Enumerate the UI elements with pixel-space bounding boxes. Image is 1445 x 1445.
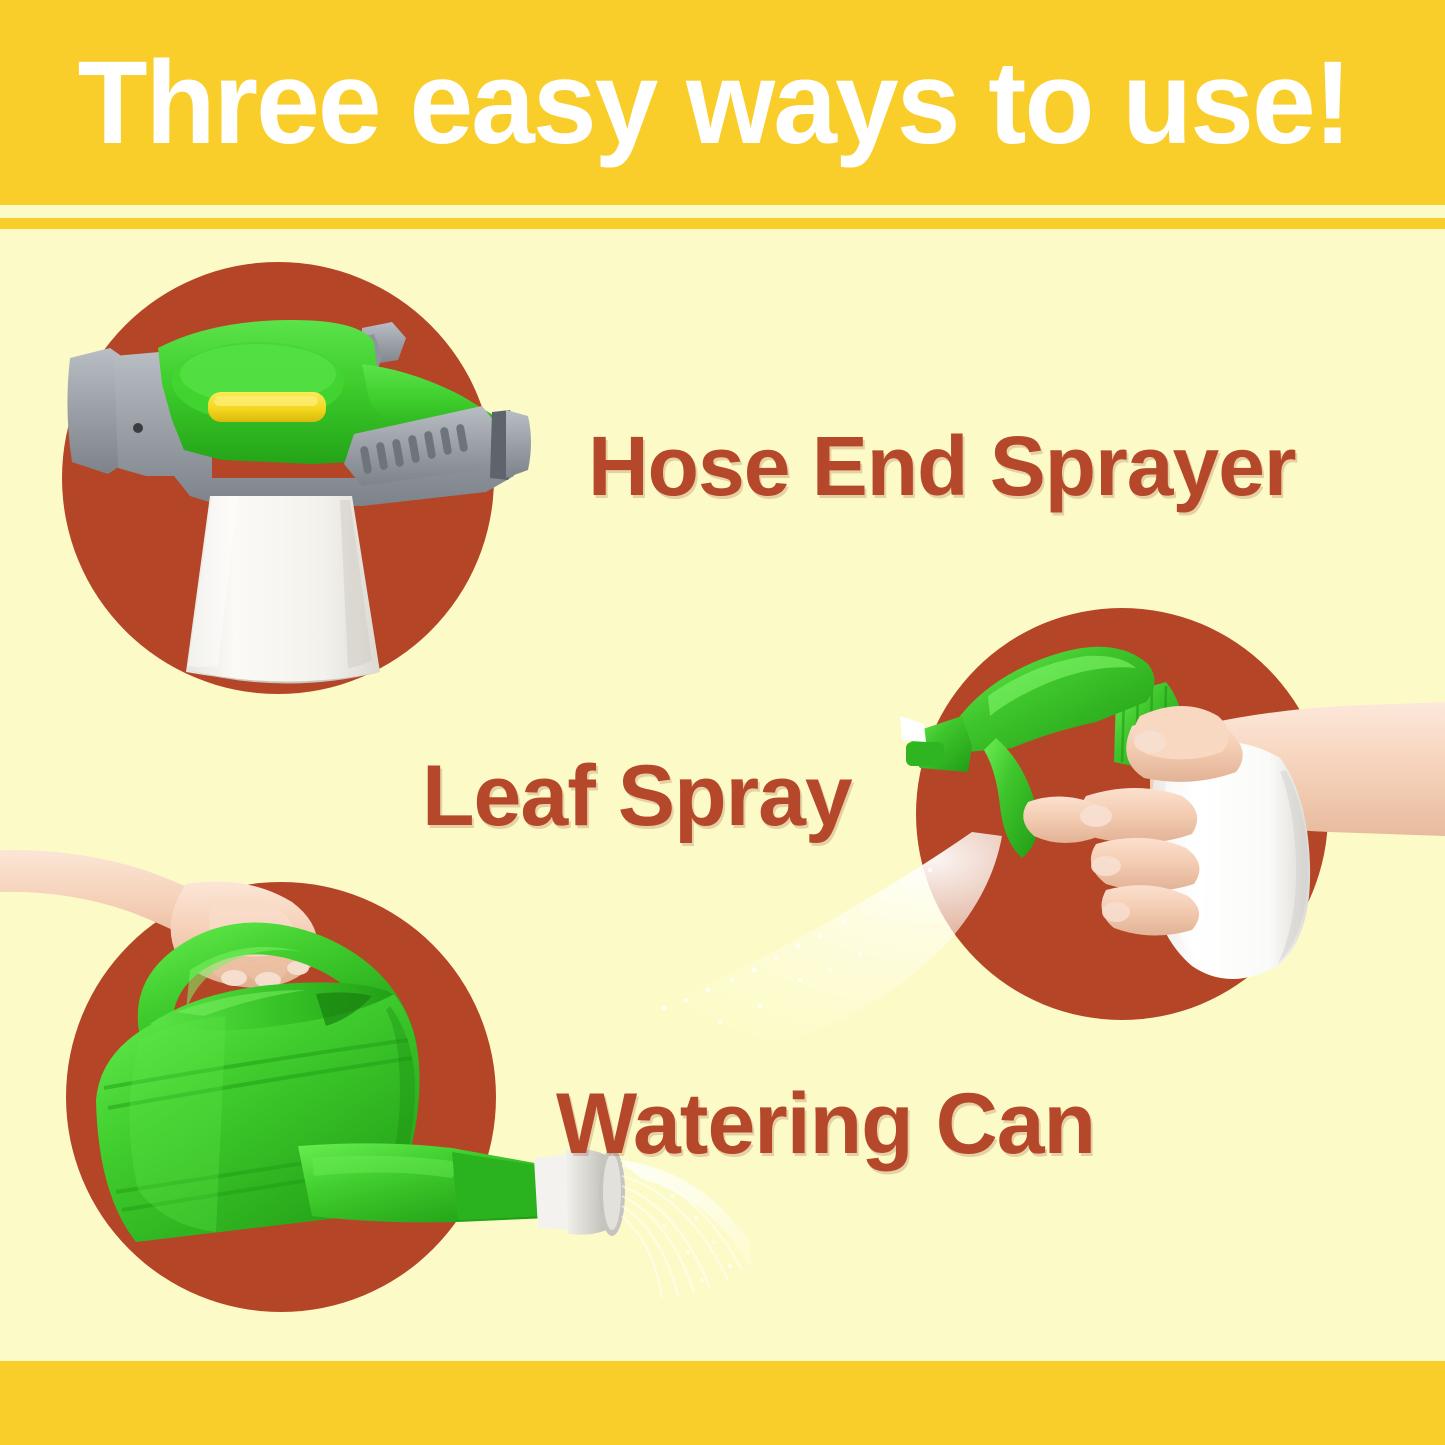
infographic-canvas: Three easy ways to use! xyxy=(0,0,1445,1445)
top-banner: Three easy ways to use! xyxy=(0,0,1445,205)
method-label-watering-can: Watering Can xyxy=(556,1081,1095,1167)
method-label-leaf-spray: Leaf Spray xyxy=(422,753,852,839)
hand-watering-can-icon xyxy=(0,840,760,1300)
hand-spray-bottle-icon xyxy=(900,620,1445,1020)
banner-divider-rule xyxy=(0,218,1445,229)
bottom-banner xyxy=(0,1361,1445,1445)
hose-end-sprayer-icon xyxy=(62,300,532,700)
method-label-hose-end-sprayer: Hose End Sprayer xyxy=(588,424,1296,508)
page-title: Three easy ways to use! xyxy=(0,44,1350,162)
